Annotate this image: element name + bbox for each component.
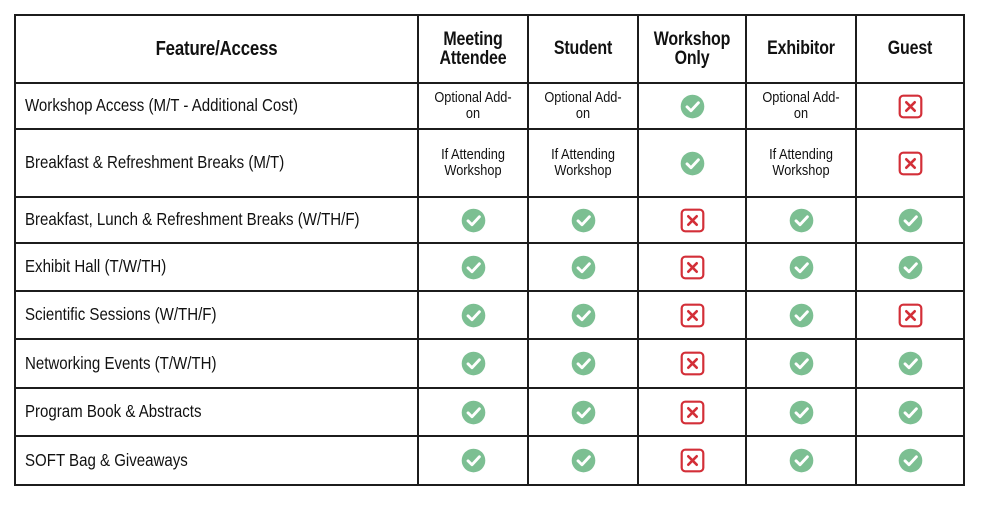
cell-note: Optional Add-on <box>418 83 528 129</box>
check-circle-icon <box>529 340 637 387</box>
check-circle-icon <box>419 340 527 387</box>
cell-included <box>856 339 964 388</box>
cross-square-icon <box>857 84 963 128</box>
cell-note: If Attending Workshop <box>528 129 638 197</box>
check-circle-icon <box>857 244 963 290</box>
check-circle-icon <box>419 198 527 242</box>
check-circle-icon <box>747 198 855 242</box>
cell-excluded <box>638 243 746 291</box>
cell-included <box>856 436 964 485</box>
table-row: Exhibit Hall (T/W/TH) <box>15 243 964 291</box>
feature-label-text: Networking Events (T/W/TH) <box>25 354 217 373</box>
cell-excluded <box>638 436 746 485</box>
cell-included <box>856 197 964 243</box>
table-header: Feature/Access Meeting Attendee Student … <box>15 15 964 83</box>
cross-square-icon <box>857 130 963 196</box>
column-header-workshop-only-label: Workshop Only <box>647 30 736 69</box>
cell-note: If Attending Workshop <box>418 129 528 197</box>
check-circle-icon <box>747 292 855 338</box>
check-circle-icon <box>529 292 637 338</box>
cell-included <box>418 388 528 436</box>
table-row: Networking Events (T/W/TH) <box>15 339 964 388</box>
check-circle-icon <box>419 437 527 484</box>
cell-note: If Attending Workshop <box>746 129 856 197</box>
feature-label-cell: Networking Events (T/W/TH) <box>15 339 418 388</box>
column-header-student-label: Student <box>538 39 629 58</box>
cell-excluded <box>856 291 964 339</box>
cell-note: Optional Add-on <box>746 83 856 129</box>
cell-included <box>746 291 856 339</box>
table-row: Breakfast & Refreshment Breaks (M/T)If A… <box>15 129 964 197</box>
cell-included <box>528 436 638 485</box>
column-header-meeting-attendee: Meeting Attendee <box>418 15 528 83</box>
cross-square-icon <box>639 244 745 290</box>
table-body: Workshop Access (M/T - Additional Cost)O… <box>15 83 964 485</box>
table-header-row: Feature/Access Meeting Attendee Student … <box>15 15 964 83</box>
check-circle-icon <box>747 437 855 484</box>
cross-square-icon <box>639 437 745 484</box>
cell-included <box>418 291 528 339</box>
cell-note-text: If Attending Workshop <box>756 147 846 179</box>
check-circle-icon <box>857 389 963 435</box>
cross-square-icon <box>639 389 745 435</box>
feature-label-text: Scientific Sessions (W/TH/F) <box>25 305 217 324</box>
check-circle-icon <box>529 389 637 435</box>
cell-note-text: Optional Add-on <box>428 90 518 122</box>
column-header-feature-label: Feature/Access <box>48 39 385 59</box>
feature-label-cell: Breakfast, Lunch & Refreshment Breaks (W… <box>15 197 418 243</box>
column-header-exhibitor-label: Exhibitor <box>756 39 847 58</box>
column-header-guest: Guest <box>856 15 964 83</box>
table-row: SOFT Bag & Giveaways <box>15 436 964 485</box>
cell-included <box>638 129 746 197</box>
table-row: Breakfast, Lunch & Refreshment Breaks (W… <box>15 197 964 243</box>
cell-note-text: Optional Add-on <box>538 90 628 122</box>
check-circle-icon <box>419 292 527 338</box>
cell-included <box>856 388 964 436</box>
cell-included <box>528 388 638 436</box>
check-circle-icon <box>639 84 745 128</box>
check-circle-icon <box>419 244 527 290</box>
table-row: Scientific Sessions (W/TH/F) <box>15 291 964 339</box>
feature-label-text: SOFT Bag & Giveaways <box>25 451 188 470</box>
cell-included <box>856 243 964 291</box>
feature-label-cell: Exhibit Hall (T/W/TH) <box>15 243 418 291</box>
check-circle-icon <box>419 389 527 435</box>
cross-square-icon <box>857 292 963 338</box>
check-circle-icon <box>857 340 963 387</box>
check-circle-icon <box>747 244 855 290</box>
cross-square-icon <box>639 198 745 242</box>
cell-included <box>418 197 528 243</box>
cell-note: Optional Add-on <box>528 83 638 129</box>
cell-included <box>638 83 746 129</box>
check-circle-icon <box>747 389 855 435</box>
feature-label-cell: Workshop Access (M/T - Additional Cost) <box>15 83 418 129</box>
check-circle-icon <box>857 437 963 484</box>
check-circle-icon <box>747 340 855 387</box>
check-circle-icon <box>639 130 745 196</box>
column-header-meeting-attendee-label: Meeting Attendee <box>428 30 519 69</box>
cross-square-icon <box>639 340 745 387</box>
cell-included <box>418 243 528 291</box>
check-circle-icon <box>529 244 637 290</box>
access-comparison-table-container: Feature/Access Meeting Attendee Student … <box>14 14 963 484</box>
check-circle-icon <box>529 198 637 242</box>
feature-label-text: Program Book & Abstracts <box>25 402 202 421</box>
cell-note-text: If Attending Workshop <box>538 147 628 179</box>
cell-included <box>528 291 638 339</box>
cell-included <box>528 197 638 243</box>
feature-label-text: Workshop Access (M/T - Additional Cost) <box>25 96 298 115</box>
column-header-feature: Feature/Access <box>15 15 418 83</box>
cell-excluded <box>856 83 964 129</box>
feature-label-cell: Program Book & Abstracts <box>15 388 418 436</box>
cell-included <box>746 243 856 291</box>
feature-label-cell: Breakfast & Refreshment Breaks (M/T) <box>15 129 418 197</box>
cell-included <box>746 197 856 243</box>
feature-label-text: Breakfast, Lunch & Refreshment Breaks (W… <box>25 210 360 229</box>
cell-excluded <box>856 129 964 197</box>
feature-label-text: Breakfast & Refreshment Breaks (M/T) <box>25 153 284 172</box>
feature-label-text: Exhibit Hall (T/W/TH) <box>25 257 166 276</box>
feature-label-cell: SOFT Bag & Giveaways <box>15 436 418 485</box>
feature-label-cell: Scientific Sessions (W/TH/F) <box>15 291 418 339</box>
cell-included <box>746 436 856 485</box>
cross-square-icon <box>639 292 745 338</box>
cell-excluded <box>638 291 746 339</box>
column-header-guest-label: Guest <box>865 39 954 58</box>
cell-included <box>418 436 528 485</box>
table-row: Program Book & Abstracts <box>15 388 964 436</box>
cell-included <box>418 339 528 388</box>
check-circle-icon <box>857 198 963 242</box>
cell-note-text: If Attending Workshop <box>428 147 518 179</box>
cell-included <box>746 339 856 388</box>
cell-included <box>528 339 638 388</box>
cell-included <box>746 388 856 436</box>
table-row: Workshop Access (M/T - Additional Cost)O… <box>15 83 964 129</box>
cell-excluded <box>638 388 746 436</box>
access-comparison-table: Feature/Access Meeting Attendee Student … <box>14 14 965 486</box>
column-header-exhibitor: Exhibitor <box>746 15 856 83</box>
cell-excluded <box>638 197 746 243</box>
column-header-student: Student <box>528 15 638 83</box>
cell-included <box>528 243 638 291</box>
cell-excluded <box>638 339 746 388</box>
column-header-workshop-only: Workshop Only <box>638 15 746 83</box>
check-circle-icon <box>529 437 637 484</box>
cell-note-text: Optional Add-on <box>756 90 846 122</box>
